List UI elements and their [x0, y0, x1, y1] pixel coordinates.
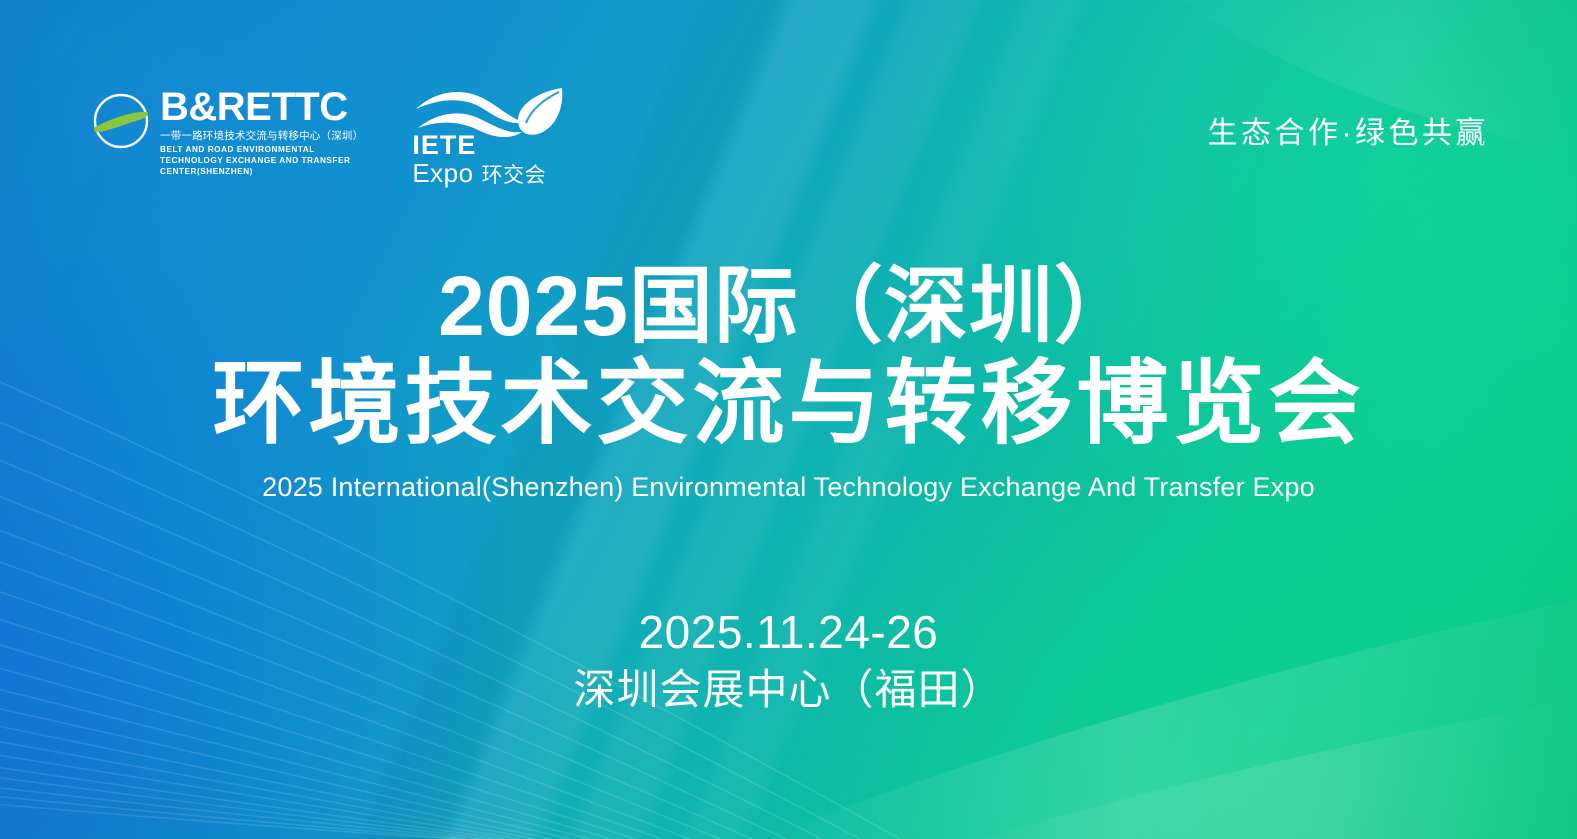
iete-wordmark: IETE: [412, 132, 546, 159]
brettc-chinese-name: 一带一路环境技术交流与转移中心（深圳）: [160, 130, 363, 142]
brettc-text-block: B&RETTC 一带一路环境技术交流与转移中心（深圳） BELT AND ROA…: [160, 88, 363, 177]
brettc-english-line-2: TECHNOLOGY EXCHANGE AND TRANSFER: [160, 155, 363, 166]
logo-group: B&RETTC 一带一路环境技术交流与转移中心（深圳） BELT AND ROA…: [88, 84, 568, 190]
banner-header: B&RETTC 一带一路环境技术交流与转移中心（深圳） BELT AND ROA…: [88, 84, 1489, 196]
event-info-block: 2025.11.24-26 深圳会展中心（福田）: [0, 606, 1577, 715]
circle-with-green-band-icon: [88, 90, 154, 152]
event-banner: B&RETTC 一带一路环境技术交流与转移中心（深圳） BELT AND ROA…: [0, 0, 1577, 839]
brettc-wordmark: B&RETTC: [160, 88, 363, 127]
iete-text-block: IETE Expo 环交会: [412, 132, 546, 186]
subtitle-english: 2025 International(Shenzhen) Environment…: [0, 472, 1577, 503]
iete-expo-logo: IETE Expo 环交会: [408, 86, 568, 190]
iete-chinese-name: 环交会: [482, 165, 547, 186]
title-line-1: 2025国际（深圳）: [0, 262, 1577, 351]
banner-content: B&RETTC 一带一路环境技术交流与转移中心（深圳） BELT AND ROA…: [0, 0, 1577, 839]
iete-subrow: Expo 环交会: [412, 160, 546, 186]
title-block: 2025国际（深圳） 环境技术交流与转移博览会 2025 Internation…: [0, 262, 1577, 503]
brettc-english-line-1: BELT AND ROAD ENVIRONMENTAL: [160, 144, 363, 155]
banner-tagline: 生态合作·绿色共赢: [1208, 108, 1490, 152]
logo-divider: [385, 84, 386, 166]
brettc-logo: B&RETTC 一带一路环境技术交流与转移中心（深圳） BELT AND ROA…: [88, 84, 363, 177]
iete-expo-word: Expo: [412, 160, 473, 186]
event-date: 2025.11.24-26: [0, 606, 1577, 659]
title-line-2: 环境技术交流与转移博览会: [0, 355, 1577, 454]
brettc-english-name: BELT AND ROAD ENVIRONMENTAL TECHNOLOGY E…: [160, 144, 363, 177]
brettc-english-line-3: CENTER(SHENZHEN): [160, 166, 363, 177]
event-venue: 深圳会展中心（福田）: [0, 665, 1577, 715]
